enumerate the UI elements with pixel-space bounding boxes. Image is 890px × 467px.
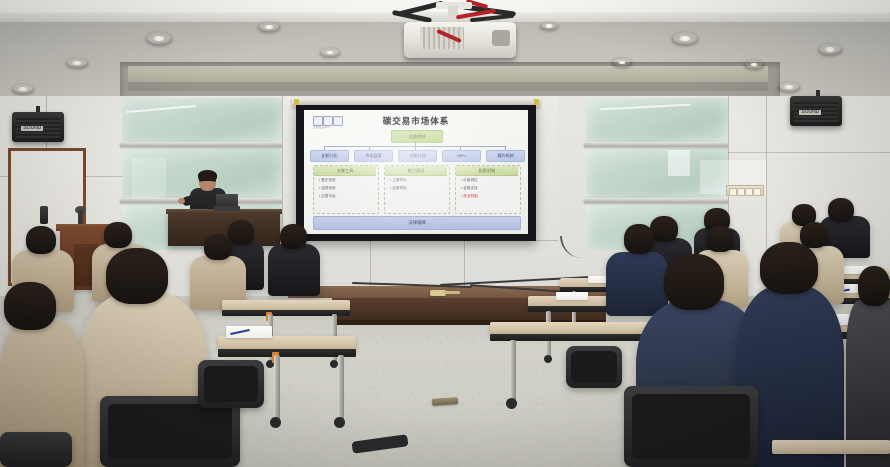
desk-caster bbox=[544, 355, 552, 363]
chair-backrest[interactable] bbox=[0, 432, 72, 467]
slide-column-0-item-2: • 交易平台 bbox=[319, 194, 336, 199]
desk-edge bbox=[218, 349, 356, 357]
desk-leg bbox=[338, 355, 344, 421]
attendee-head bbox=[828, 198, 854, 222]
desk-caster bbox=[330, 360, 338, 368]
attendee-head-foreground bbox=[4, 282, 56, 330]
desk-leg bbox=[510, 340, 516, 402]
desk-caster bbox=[334, 417, 345, 428]
speaker-brand-label: SOUND bbox=[21, 126, 43, 131]
slide-column-0-header: 支撑工具 bbox=[314, 166, 376, 176]
attendee-head-foreground bbox=[664, 254, 724, 310]
ceiling-downlight-icon bbox=[12, 84, 34, 94]
attendee-head bbox=[104, 222, 132, 248]
attendee-torso bbox=[606, 252, 668, 316]
presentation-slide: 低碳发展中心 碳交易市场体系 总量控制 配额分配 市场监管 交易计划 MRV 履… bbox=[308, 112, 524, 232]
glass-reflection bbox=[132, 158, 166, 198]
desk-top bbox=[772, 440, 890, 454]
glass-mullion bbox=[584, 142, 732, 147]
slide-row-box-2: 交易计划 bbox=[398, 150, 437, 162]
attendee-head-foreground bbox=[106, 248, 168, 304]
soffit-shadow-band bbox=[128, 82, 768, 91]
conference-room-photo: SOUND SOUND 低碳发展中心 碳交易市场体系 总量控制 配额分配 市场监… bbox=[0, 0, 890, 467]
ceiling-downlight-icon bbox=[612, 58, 632, 67]
slide-column-1-item-1: • 监管机构 bbox=[390, 186, 407, 191]
desk-caster bbox=[270, 417, 281, 428]
slide-column-2-item-1: • 金融支持 bbox=[461, 186, 478, 191]
glass-mullion bbox=[120, 142, 286, 147]
attendee-head bbox=[228, 220, 254, 245]
ceiling-downlight-icon bbox=[258, 22, 280, 32]
attendee-head bbox=[204, 234, 232, 260]
desk-leg bbox=[274, 355, 280, 421]
glass-reflection bbox=[668, 150, 690, 176]
presenter-hand bbox=[178, 198, 185, 204]
chair-backrest[interactable] bbox=[198, 360, 264, 408]
chair-backrest[interactable] bbox=[624, 386, 758, 467]
slide-row-box-1: 市场监管 bbox=[354, 150, 393, 162]
slide-bottom-bar: 法律保障 bbox=[313, 216, 521, 230]
attendee-head-foreground bbox=[858, 266, 890, 306]
desk-edge bbox=[222, 310, 350, 316]
attendee-head bbox=[706, 226, 734, 252]
slide-column-0-item-1: • 结算系统 bbox=[319, 186, 336, 191]
desk-top bbox=[218, 336, 356, 350]
ceiling-downlight-icon bbox=[672, 32, 698, 45]
speaker-brand-label: SOUND bbox=[799, 110, 821, 115]
slide-column-2-item-2: • 抵消机制 bbox=[461, 194, 478, 199]
ceiling-downlight-icon bbox=[320, 48, 340, 57]
wall-seam bbox=[728, 152, 890, 153]
wall-switch-panel[interactable] bbox=[726, 185, 764, 196]
desk-caster bbox=[506, 398, 517, 409]
slide-column-2-header: 配套机制 bbox=[456, 166, 518, 176]
ceiling-front-edge bbox=[0, 12, 890, 22]
ceiling-downlight-icon bbox=[146, 32, 172, 45]
presenter-laptop-base[interactable] bbox=[214, 206, 240, 211]
projector-lens-icon bbox=[492, 30, 510, 46]
slide-column-1-header: 能力建设 bbox=[385, 166, 447, 176]
soffit-band bbox=[128, 66, 768, 82]
slide-column-1-item-0: • 主管机构 bbox=[390, 178, 407, 183]
slide-column-2-item-0: • 价格调控 bbox=[461, 178, 478, 183]
wall-speaker-left: SOUND bbox=[12, 112, 64, 142]
chair-backrest[interactable] bbox=[566, 346, 622, 388]
slide-top-box: 总量控制 bbox=[391, 130, 443, 143]
ceiling-downlight-icon bbox=[744, 60, 764, 69]
presenter-face bbox=[202, 180, 213, 190]
attendee-head bbox=[624, 224, 654, 254]
floor-power-plug bbox=[444, 291, 460, 294]
attendee-head-foreground bbox=[760, 242, 818, 294]
slide-row-box-4: 履约机制 bbox=[486, 150, 525, 162]
attendee-head bbox=[280, 224, 307, 249]
attendee-head bbox=[26, 226, 56, 254]
wall-speaker-right: SOUND bbox=[790, 96, 842, 126]
ceiling-downlight-icon bbox=[818, 44, 842, 55]
presenter-hair bbox=[198, 170, 217, 181]
slide-row-box-0: 配额分配 bbox=[310, 150, 349, 162]
ceiling-downlight-icon bbox=[540, 22, 558, 30]
slide-column-0-item-0: • 登记系统 bbox=[319, 178, 336, 183]
glass-mullion bbox=[584, 198, 732, 203]
slide-row-box-3: MRV bbox=[442, 150, 481, 162]
ceiling-downlight-icon bbox=[778, 82, 800, 92]
ceiling-downlight-icon bbox=[66, 58, 88, 68]
slide-title: 碳交易市场体系 bbox=[308, 115, 524, 127]
attendee-head bbox=[650, 216, 678, 242]
glass-panel-left-upper bbox=[122, 98, 282, 144]
thermos-flask bbox=[40, 206, 48, 224]
attendee-torso bbox=[268, 244, 320, 296]
paper-sheet bbox=[556, 292, 588, 300]
